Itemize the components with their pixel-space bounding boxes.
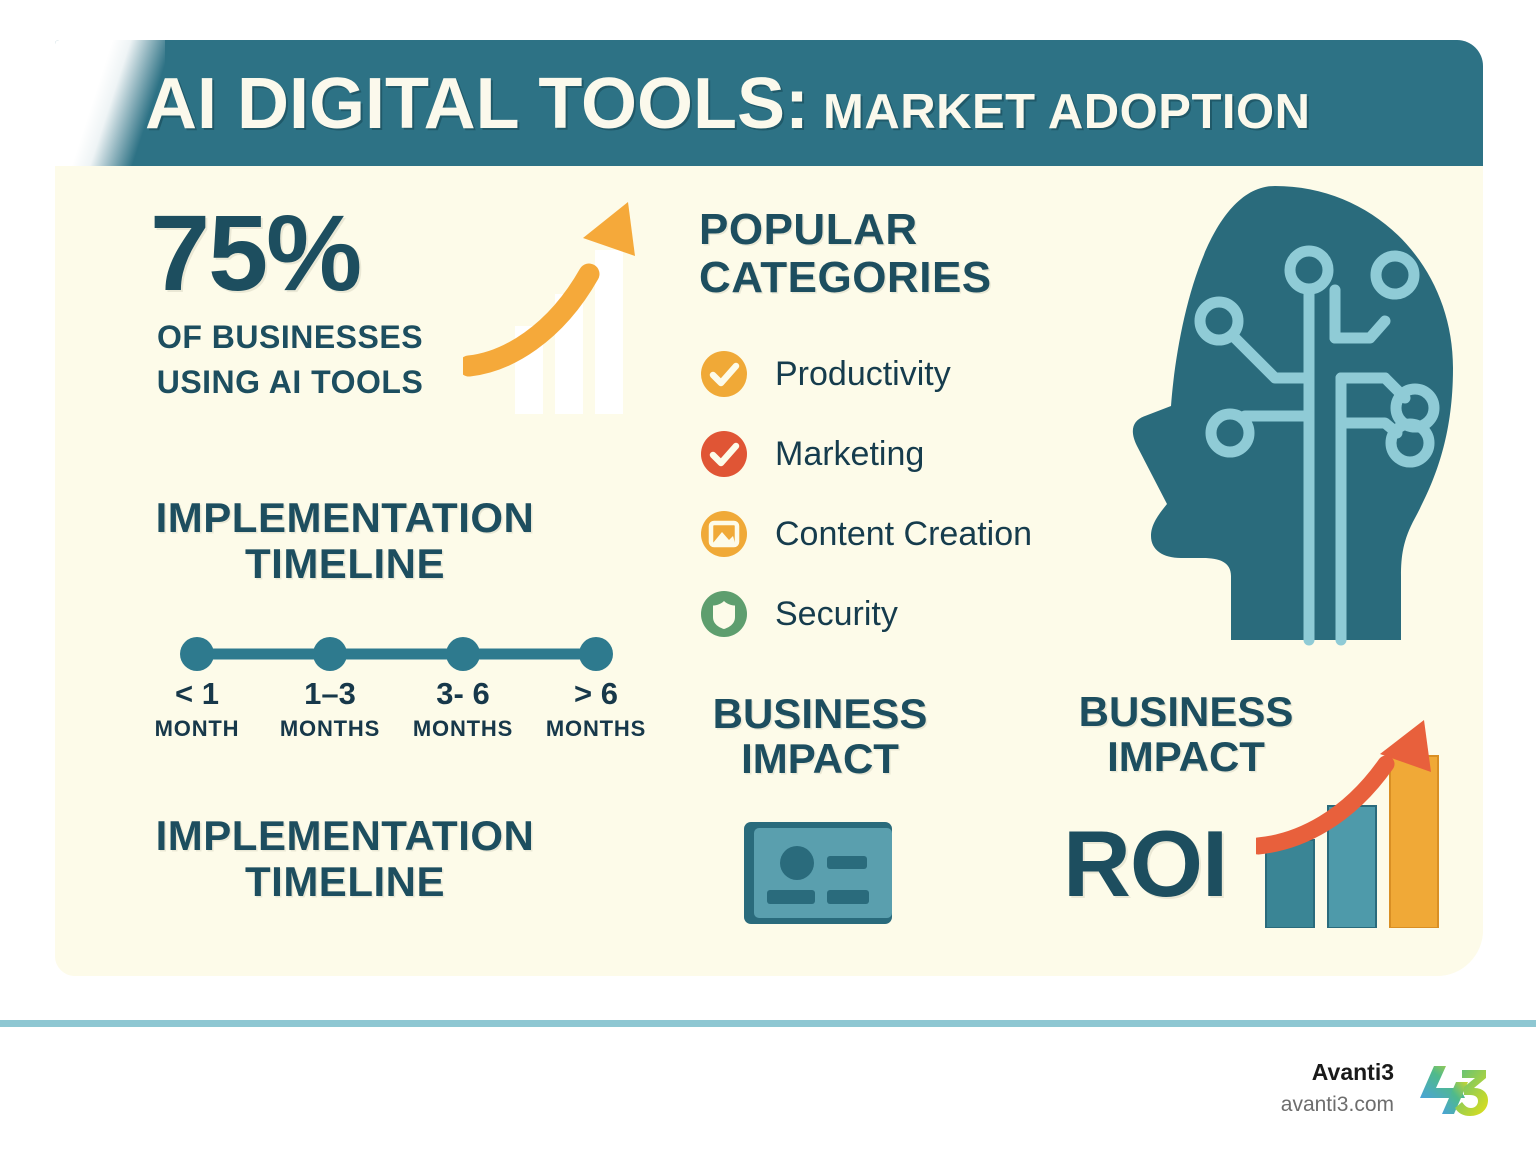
growth-bars-icon bbox=[1256, 718, 1471, 928]
footer-divider bbox=[0, 1020, 1536, 1027]
stat-caption-line2: USING AI TOOLS bbox=[95, 364, 485, 401]
timeline-heading-line1: IMPLEMENTATION bbox=[55, 496, 635, 540]
timeline-label-1: 1–3 MONTHS bbox=[255, 676, 405, 742]
timeline-label-1-unit: MONTHS bbox=[255, 716, 405, 742]
growth-arrow-icon bbox=[463, 194, 653, 414]
image-frame-icon bbox=[699, 509, 749, 559]
categories-heading-line1: POPULAR bbox=[699, 206, 1119, 254]
timeline-dot bbox=[579, 637, 613, 671]
timeline-label-0-unit: MONTH bbox=[122, 716, 272, 742]
category-item-security[interactable]: Security bbox=[699, 574, 1032, 654]
category-item-productivity[interactable]: Productivity bbox=[699, 334, 1032, 414]
page-title-sub: MARKET ADOPTION bbox=[823, 84, 1311, 140]
category-label-content-creation: Content Creation bbox=[775, 515, 1032, 554]
timeline-track bbox=[55, 634, 635, 674]
timeline-label-1-num: 1–3 bbox=[255, 676, 405, 712]
timeline-label-2: 3- 6 MONTHS bbox=[388, 676, 538, 742]
timeline-dot bbox=[180, 637, 214, 671]
categories-list: Productivity Marketing Content Creation bbox=[699, 334, 1032, 654]
timeline-labels: < 1 MONTH 1–3 MONTHS 3- 6 MONTHS > 6 MON… bbox=[55, 676, 635, 766]
category-label-security: Security bbox=[775, 595, 898, 634]
check-circle-icon bbox=[699, 349, 749, 399]
business-impact-heading-line1: BUSINESS bbox=[645, 692, 995, 737]
timeline-label-0-num: < 1 bbox=[122, 676, 272, 712]
panel-implementation-timeline-repeat: IMPLEMENTATION TIMELINE bbox=[55, 790, 635, 976]
category-item-content-creation[interactable]: Content Creation bbox=[699, 494, 1032, 574]
panel-implementation-timeline: IMPLEMENTATION TIMELINE < 1 MONTH 1–3 MO… bbox=[55, 474, 635, 784]
category-label-marketing: Marketing bbox=[775, 435, 924, 474]
panel-roi: BUSINESS IMPACT ROI bbox=[1001, 658, 1483, 976]
business-impact-heading-line2: IMPACT bbox=[645, 737, 995, 782]
brand-url: avanti3.com bbox=[1281, 1091, 1394, 1118]
timeline-repeat-heading-line2: TIMELINE bbox=[55, 860, 635, 904]
categories-heading-line2: CATEGORIES bbox=[699, 254, 1119, 302]
roi-label: ROI bbox=[1063, 810, 1227, 918]
timeline-label-0: < 1 MONTH bbox=[122, 676, 272, 742]
page-title: AI DIGITAL TOOLS: MARKET ADOPTION bbox=[145, 63, 1311, 145]
timeline-dot bbox=[446, 637, 480, 671]
category-label-productivity: Productivity bbox=[775, 355, 951, 394]
stat-value: 75% bbox=[150, 190, 360, 315]
business-impact-heading: BUSINESS IMPACT bbox=[645, 692, 995, 781]
header-bar: AI DIGITAL TOOLS: MARKET ADOPTION bbox=[55, 40, 1483, 168]
ai-head-circuit-icon bbox=[1085, 178, 1485, 648]
timeline-label-2-unit: MONTHS bbox=[388, 716, 538, 742]
timeline-dot bbox=[313, 637, 347, 671]
roi-bar bbox=[1266, 840, 1314, 928]
page-title-main: AI DIGITAL TOOLS: bbox=[145, 63, 809, 145]
id-card-icon bbox=[742, 818, 897, 928]
infographic-card: 75% OF BUSINESSES USING AI TOOLS IMPLEME… bbox=[55, 166, 1483, 976]
timeline-label-2-num: 3- 6 bbox=[388, 676, 538, 712]
check-circle-icon bbox=[699, 429, 749, 479]
brand-name: Avanti3 bbox=[1281, 1058, 1394, 1087]
footer-branding: Avanti3 avanti3.com bbox=[1281, 1058, 1490, 1118]
roi-bar bbox=[1390, 756, 1438, 928]
panel-adoption-stat: 75% OF BUSINESSES USING AI TOOLS bbox=[55, 166, 635, 468]
panel-business-impact: BUSINESS IMPACT bbox=[645, 658, 995, 976]
panel-popular-categories: POPULAR CATEGORIES Productivity Marketin… bbox=[645, 166, 1483, 652]
categories-heading: POPULAR CATEGORIES bbox=[699, 206, 1119, 301]
footer-text: Avanti3 avanti3.com bbox=[1281, 1058, 1394, 1118]
category-item-marketing[interactable]: Marketing bbox=[699, 414, 1032, 494]
shield-icon bbox=[699, 589, 749, 639]
timeline-repeat-heading-line1: IMPLEMENTATION bbox=[55, 814, 635, 858]
a3-logo-icon[interactable] bbox=[1416, 1058, 1490, 1118]
stat-caption-line1: OF BUSINESSES bbox=[95, 319, 485, 356]
timeline-heading-line2: TIMELINE bbox=[55, 542, 635, 586]
